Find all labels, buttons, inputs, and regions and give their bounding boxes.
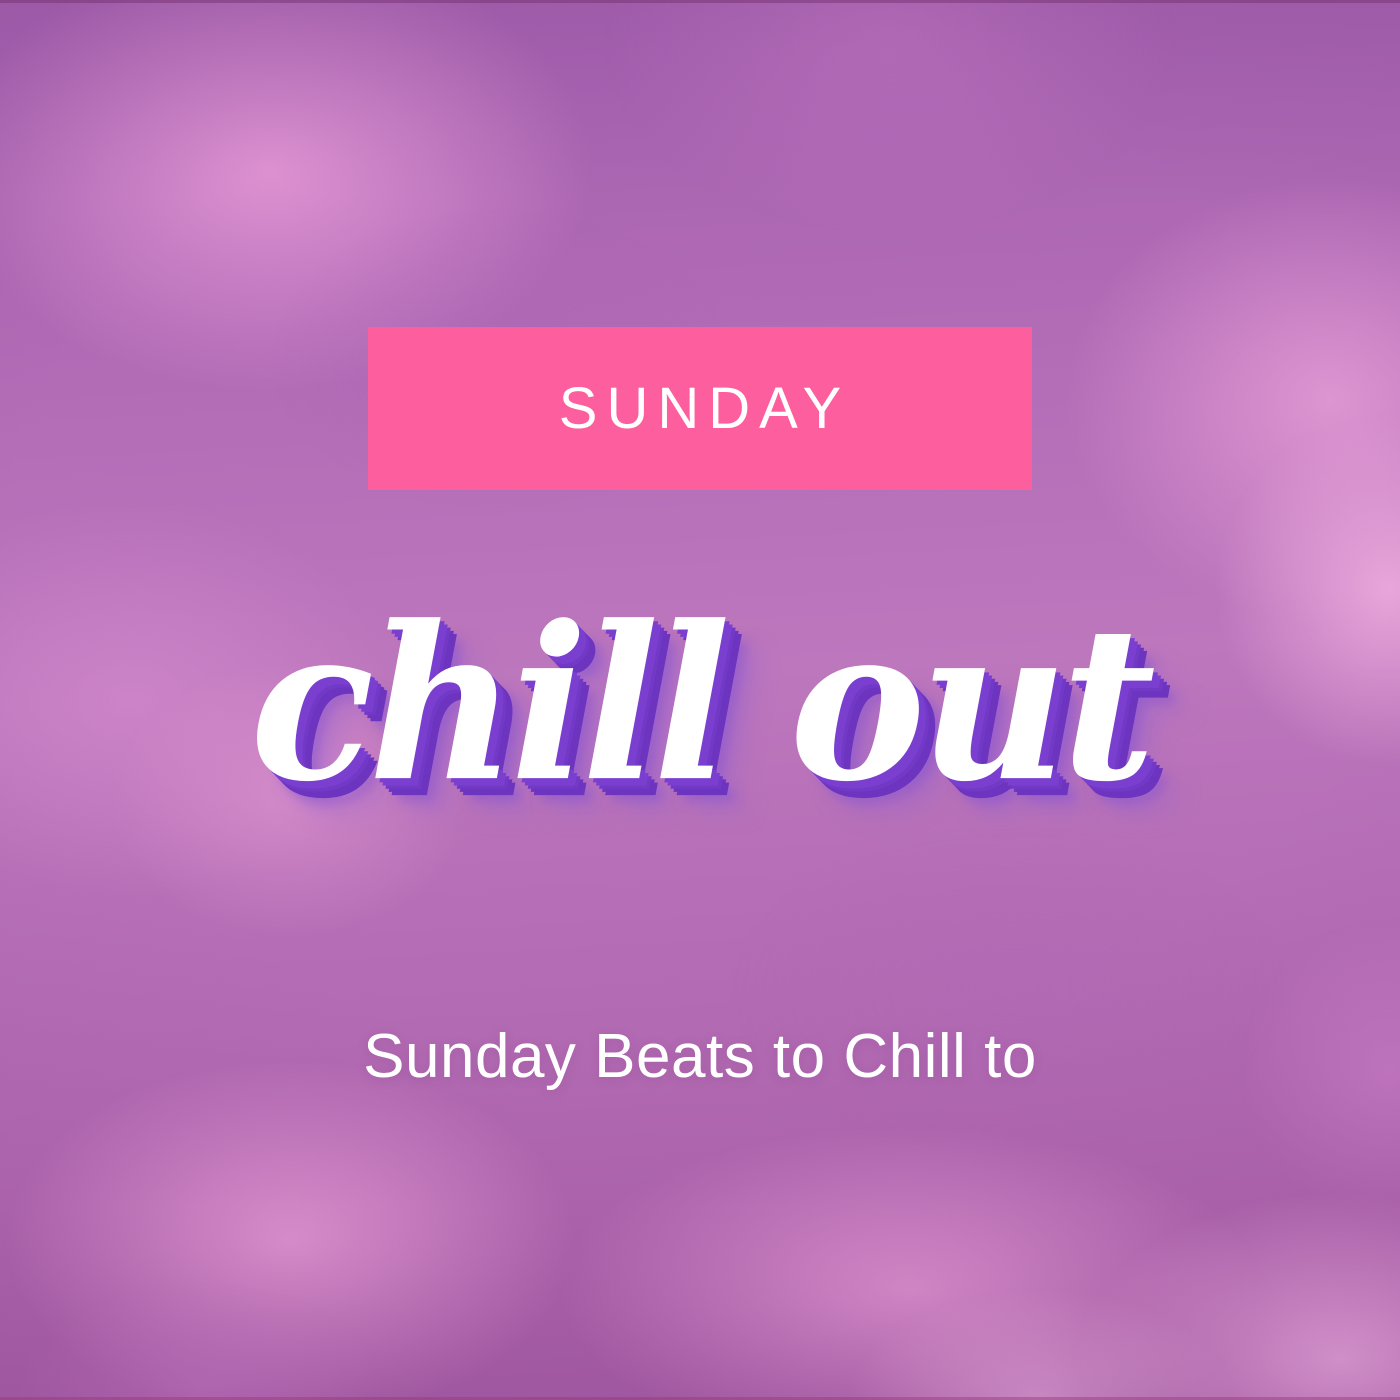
headline-text: chill out [250,599,1150,811]
poster-canvas: SUNDAY chill out Sunday Beats to Chill t… [0,0,1400,1400]
subtitle-text: Sunday Beats to Chill to [0,1026,1400,1088]
sunday-banner: SUNDAY [368,327,1032,490]
sunday-banner-label: SUNDAY [550,380,850,438]
poster-content: SUNDAY chill out Sunday Beats to Chill t… [0,0,1400,1400]
headline-container: chill out [0,590,1400,820]
